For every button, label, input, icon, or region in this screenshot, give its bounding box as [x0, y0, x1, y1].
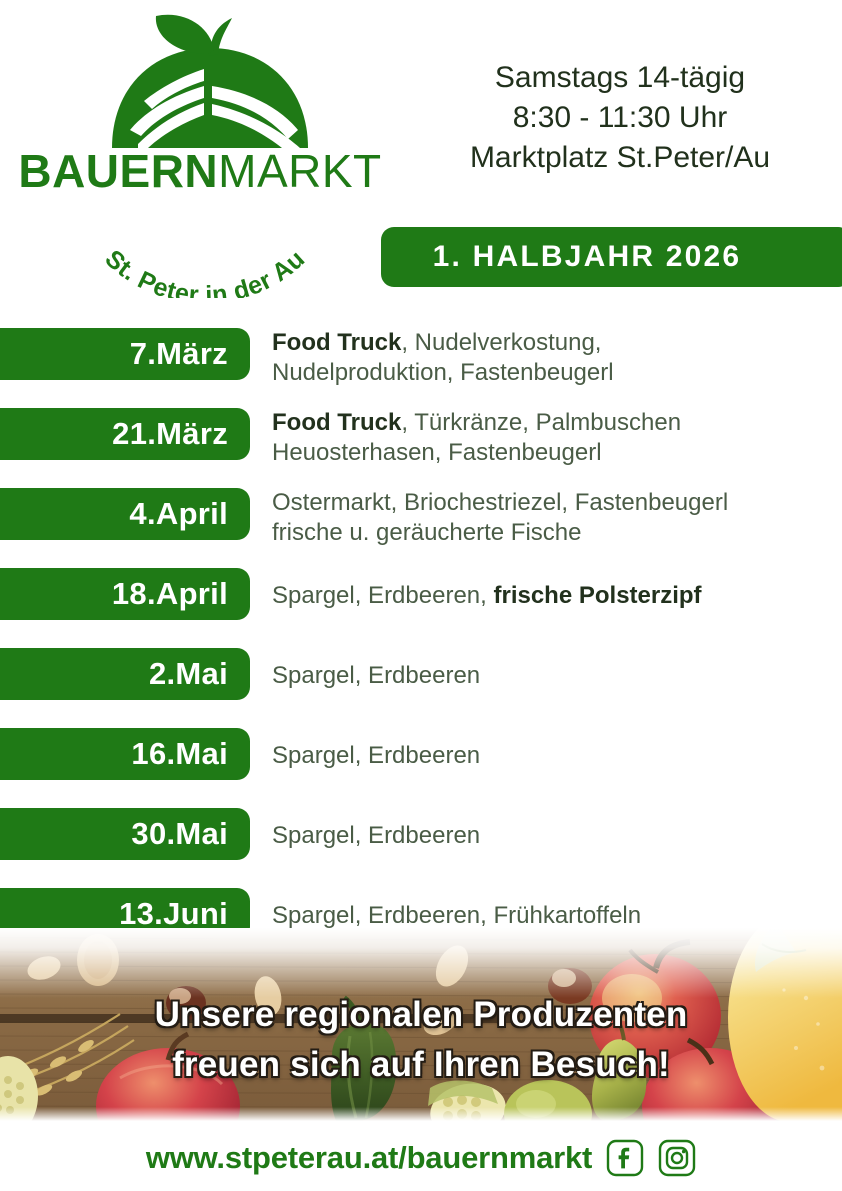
schedule-row: 2.MaiSpargel, Erdbeeren: [0, 648, 842, 728]
date-chip: 21.März: [0, 408, 250, 460]
date-label: 21.März: [112, 416, 228, 452]
date-chip: 18.April: [0, 568, 250, 620]
offer-line: Heuosterhasen, Fastenbeugerl: [272, 438, 832, 468]
apple-field-logo-icon: [100, 8, 320, 158]
date-label: 2.Mai: [149, 656, 228, 692]
offer-text: Spargel, Erdbeeren: [272, 822, 480, 849]
offer-line: Spargel, Erdbeeren, frische Polsterzipf: [272, 581, 832, 611]
offer-highlight: Food Truck: [272, 409, 401, 436]
wordmark: BAUERNMARKT: [0, 148, 400, 194]
offer-description: Food Truck, Nudelverkostung,Nudelprodukt…: [272, 328, 832, 387]
schedule-row: 16.MaiSpargel, Erdbeeren: [0, 728, 842, 808]
schedule-row: 18.AprilSpargel, Erdbeeren, frische Pols…: [0, 568, 842, 648]
arc-subtitle-text: St. Peter in der Au: [99, 245, 310, 298]
photo-top-fade: [0, 928, 842, 998]
offer-text: Nudelproduktion, Fastenbeugerl: [272, 359, 614, 386]
offer-description: Spargel, Erdbeeren: [272, 821, 832, 851]
date-label: 4.April: [129, 496, 228, 532]
offer-text: frische u. geräucherte Fische: [272, 519, 581, 546]
brand-logo-block: BAUERNMARKT St. Peter in der Au: [0, 0, 400, 300]
schedule-list: 7.MärzFood Truck, Nudelverkostung,Nudelp…: [0, 328, 842, 968]
offer-description: Spargel, Erdbeeren: [272, 741, 832, 771]
offer-line: Food Truck, Nudelverkostung,: [272, 328, 832, 358]
offer-text: Spargel, Erdbeeren,: [272, 582, 493, 609]
photo-bottom-fade: [0, 1107, 842, 1121]
website-url[interactable]: www.stpeterau.at/bauernmarkt: [146, 1140, 592, 1176]
offer-line: Food Truck, Türkränze, Palmbuschen: [272, 408, 832, 438]
offer-line: Ostermarkt, Briochestriezel, Fastenbeuge…: [272, 488, 832, 518]
tagline: Unsere regionalen Produzenten freuen sic…: [0, 990, 842, 1089]
offer-line: Spargel, Erdbeeren: [272, 661, 832, 691]
instagram-icon[interactable]: [658, 1139, 696, 1177]
date-label: 13.Juni: [119, 896, 228, 932]
offer-highlight: frische Polsterzipf: [493, 582, 701, 609]
offer-line: Spargel, Erdbeeren, Frühkartoffeln: [272, 901, 832, 931]
schedule-row: 30.MaiSpargel, Erdbeeren: [0, 808, 842, 888]
offer-text: Heuosterhasen, Fastenbeugerl: [272, 439, 602, 466]
offer-description: Spargel, Erdbeeren, Frühkartoffeln: [272, 901, 832, 931]
info-line-hours: 8:30 - 11:30 Uhr: [420, 98, 820, 138]
offer-text: Ostermarkt, Briochestriezel, Fastenbeuge…: [272, 489, 728, 516]
offer-line: Nudelproduktion, Fastenbeugerl: [272, 358, 832, 388]
offer-description: Spargel, Erdbeeren: [272, 661, 832, 691]
info-line-location: Marktplatz St.Peter/Au: [420, 138, 820, 178]
facebook-icon[interactable]: [606, 1139, 644, 1177]
market-info: Samstags 14-tägig 8:30 - 11:30 Uhr Markt…: [420, 58, 820, 178]
arc-subtitle: St. Peter in der Au: [60, 198, 350, 298]
offer-line: Spargel, Erdbeeren: [272, 741, 832, 771]
date-chip: 2.Mai: [0, 648, 250, 700]
date-label: 18.April: [112, 576, 228, 612]
offer-highlight: Food Truck: [272, 329, 401, 356]
offer-line: Spargel, Erdbeeren: [272, 821, 832, 851]
offer-description: Ostermarkt, Briochestriezel, Fastenbeuge…: [272, 488, 832, 547]
season-banner: 1. HALBJAHR 2026: [381, 227, 842, 287]
date-chip: 30.Mai: [0, 808, 250, 860]
offer-text: Spargel, Erdbeeren: [272, 662, 480, 689]
schedule-row: 4.AprilOstermarkt, Briochestriezel, Fast…: [0, 488, 842, 568]
wordmark-bauern: BAUERN: [18, 145, 218, 197]
date-label: 7.März: [130, 336, 228, 372]
offer-line: frische u. geräucherte Fische: [272, 518, 832, 548]
date-chip: 16.Mai: [0, 728, 250, 780]
wordmark-markt: MARKT: [218, 145, 382, 197]
poster-root: BAUERNMARKT St. Peter in der Au Samstags…: [0, 0, 842, 1191]
offer-text: Spargel, Erdbeeren: [272, 742, 480, 769]
date-chip: 4.April: [0, 488, 250, 540]
tagline-line-2: freuen sich auf Ihren Besuch!: [0, 1040, 842, 1090]
offer-text: , Türkränze, Palmbuschen: [401, 409, 681, 436]
schedule-row: 7.MärzFood Truck, Nudelverkostung,Nudelp…: [0, 328, 842, 408]
season-banner-label: 1. HALBJAHR 2026: [433, 240, 742, 274]
date-label: 30.Mai: [131, 816, 228, 852]
date-chip: 7.März: [0, 328, 250, 380]
offer-description: Food Truck, Türkränze, PalmbuschenHeuost…: [272, 408, 832, 467]
date-label: 16.Mai: [131, 736, 228, 772]
schedule-row: 21.MärzFood Truck, Türkränze, Palmbusche…: [0, 408, 842, 488]
tagline-line-1: Unsere regionalen Produzenten: [0, 990, 842, 1040]
info-line-schedule: Samstags 14-tägig: [420, 58, 820, 98]
footer: www.stpeterau.at/bauernmarkt: [0, 1125, 842, 1191]
offer-text: Spargel, Erdbeeren, Frühkartoffeln: [272, 902, 641, 929]
offer-description: Spargel, Erdbeeren, frische Polsterzipf: [272, 581, 832, 611]
offer-text: , Nudelverkostung,: [401, 329, 601, 356]
